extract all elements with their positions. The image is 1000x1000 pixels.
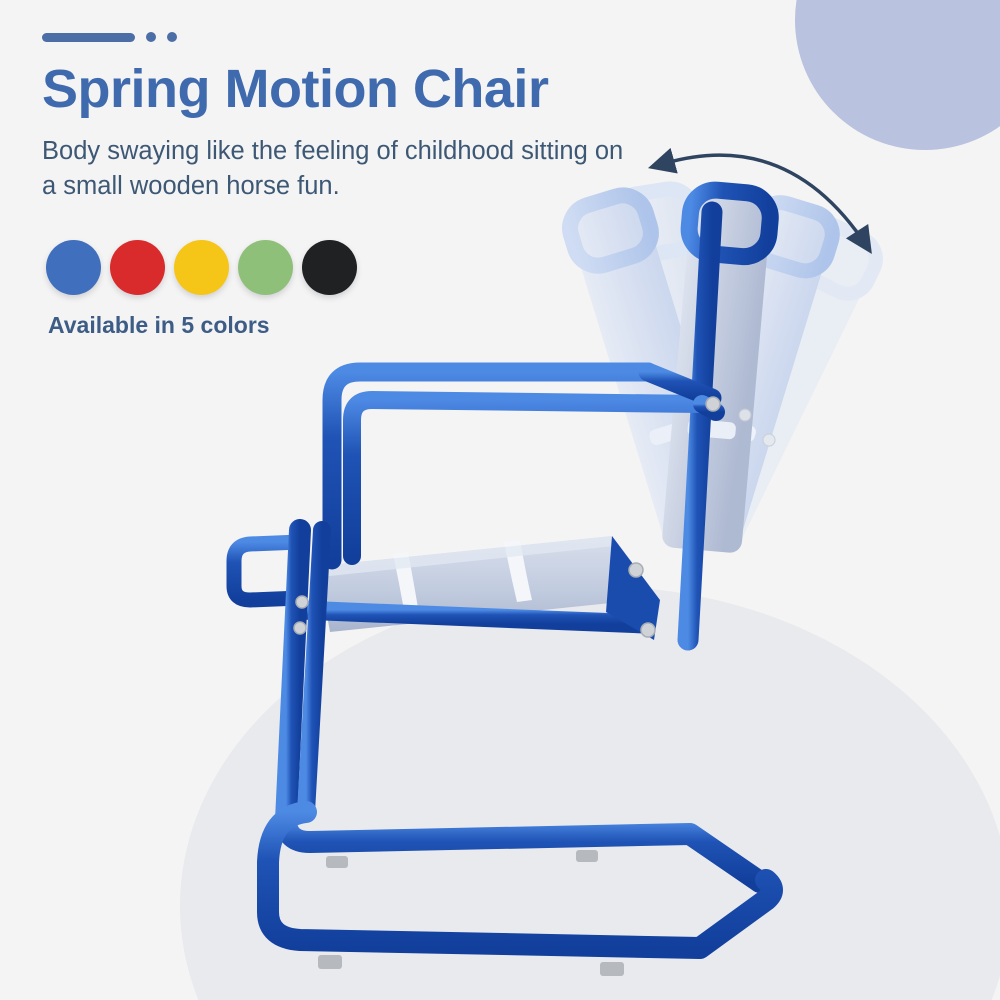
color-swatch-green[interactable] — [238, 240, 293, 295]
color-swatch-red[interactable] — [110, 240, 165, 295]
eyebrow-dot-icon — [146, 32, 156, 42]
chair-cantilever-upright — [286, 530, 322, 820]
chair-floor-glides — [318, 850, 624, 976]
available-colors-caption: Available in 5 colors — [48, 312, 270, 339]
eyebrow-dot-icon — [167, 32, 177, 42]
color-swatch-list — [46, 240, 357, 295]
color-swatch-black[interactable] — [302, 240, 357, 295]
page-subtitle: Body swaying like the feeling of childho… — [42, 134, 642, 203]
eyebrow-bar-icon — [42, 33, 135, 42]
color-swatch-yellow[interactable] — [174, 240, 229, 295]
color-swatch-blue[interactable] — [46, 240, 101, 295]
page-title: Spring Motion Chair — [42, 60, 682, 118]
chair-base-frame — [268, 812, 772, 948]
poster-canvas: Spring Motion Chair Body swaying like th… — [0, 0, 1000, 1000]
decorative-eyebrow — [42, 30, 682, 44]
header-block: Spring Motion Chair Body swaying like th… — [42, 30, 682, 204]
